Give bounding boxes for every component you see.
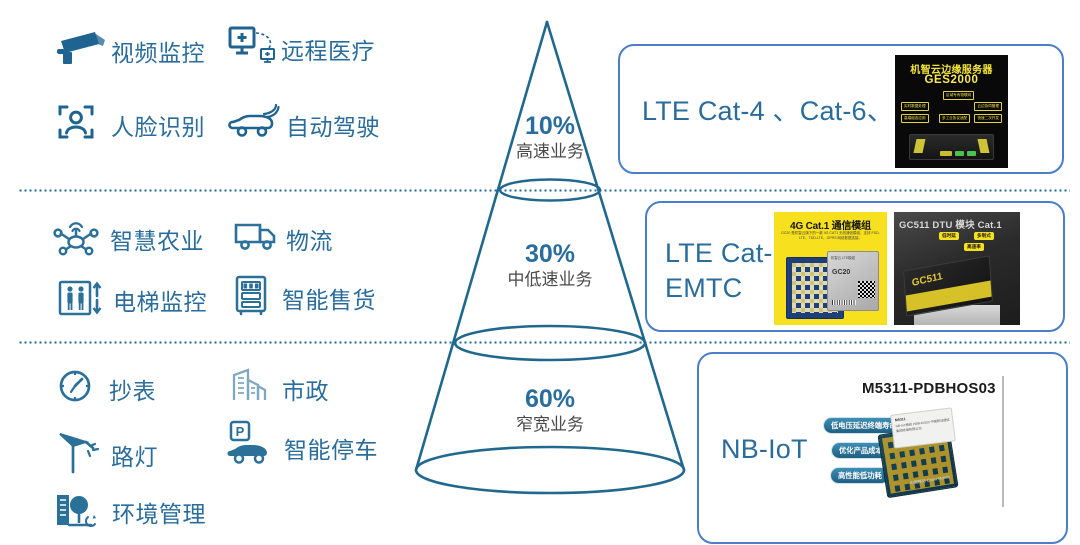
scenario-label: 视频监控 [111, 34, 205, 68]
delivery-truck-icon [232, 217, 286, 260]
server-port-row [940, 151, 976, 156]
card-title: LTE Cat-4 、Cat-6、5G [642, 94, 930, 129]
scenario-label: 人脸识别 [111, 108, 205, 142]
china-mobile-brand: 中国移动 China Mobile [910, 475, 951, 486]
scenario-label: 物流 [286, 222, 333, 256]
telemedicine-monitor-icon [225, 24, 281, 73]
cone-percent: 60% [460, 385, 640, 414]
smart-parking-icon: P [226, 420, 284, 475]
scenario-label: 智能停车 [284, 431, 378, 465]
cone-segment-name: 窄宽业务 [460, 414, 640, 436]
card-lte-cat1-emtc[interactable]: LTE Cat-1 EMTC 4G Cat.1 通信模组 GC20 是机智云旗下… [645, 201, 1065, 332]
barcode-icon [832, 300, 856, 305]
scenario-autonomous-driving[interactable]: 自动驾驶 [228, 103, 380, 146]
scenario-telemedicine[interactable]: 远程医疗 [225, 24, 375, 73]
scenario-elevator-monitoring[interactable]: 电梯监控 [55, 276, 207, 323]
street-lamp-icon [57, 428, 111, 481]
ges2000-tag-group: 区域专有物联网 实时数据处理 云边协同管理 高端组态应用 多工业协议适配 快速二… [899, 91, 1004, 123]
scenario-smart-agriculture[interactable]: 智慧农业 [52, 215, 204, 262]
self-driving-car-icon [228, 103, 286, 146]
scenario-meter-reading[interactable]: 抄表 [55, 366, 156, 411]
scenario-label: 抄表 [109, 372, 156, 406]
scenario-environment-management[interactable]: 环境管理 [52, 485, 206, 538]
scenario-label: 路灯 [111, 438, 158, 472]
scenario-smart-vending[interactable]: 智能售货 [230, 273, 376, 322]
cone-percent: 10% [460, 112, 640, 141]
scenario-smart-parking[interactable]: P 智能停车 [226, 420, 378, 475]
ges2000-tag: 云边协同管理 [974, 102, 1002, 111]
cone-segment-name: 高速业务 [460, 141, 640, 163]
agriculture-drone-icon [52, 215, 110, 262]
cone-segment-mid: 30% 中低速业务 [460, 240, 640, 291]
gc20-module-top-label: 机智云 LTE模组 [831, 255, 855, 260]
gc20-module-shield: 机智云 LTE模组 GC20 [827, 251, 879, 311]
scenario-label: 市政 [282, 372, 329, 406]
gc20-module-label: GC20 [832, 269, 850, 276]
meter-reading-icon [55, 366, 109, 411]
product-image-gc20: 4G Cat.1 通信模组 GC20 是机智云旗下的一款 4G CAT1 无线通… [774, 212, 887, 325]
cone-percent: 30% [460, 240, 640, 269]
gc511-device-label: GC511 [911, 271, 943, 289]
scenario-logistics[interactable]: 物流 [232, 217, 333, 260]
ges2000-tag: 高端组态应用 [901, 114, 929, 123]
cone-segment-low: 60% 窄宽业务 [460, 385, 640, 436]
scenario-label: 自动驾驶 [286, 108, 380, 142]
ges2000-tag: 实时数据处理 [901, 102, 929, 111]
ges2000-tag: 区域专有物联网 [943, 91, 974, 100]
product-image-gc511-dtu: GC511 DTU 模块 Cat.1 低时延 多制式 高速率 GC511 [894, 212, 1020, 325]
municipal-buildings-icon [228, 366, 282, 411]
product-image-ges2000: 机智云边缘服务器 GES2000 区域专有物联网 实时数据处理 云边协同管理 高… [895, 55, 1008, 168]
ges2000-tag: 多工业协议适配 [939, 114, 970, 123]
vertical-rule [1002, 376, 1004, 507]
environment-management-icon [52, 485, 112, 538]
qr-code-icon [858, 281, 875, 298]
ges2000-model: GES2000 [895, 74, 1008, 86]
gc511-tag: 高速率 [964, 243, 984, 251]
scenario-face-recognition[interactable]: 人脸识别 [55, 101, 205, 148]
cone-segment-name: 中低速业务 [460, 269, 640, 291]
cctv-camera-icon [55, 28, 111, 73]
card-title: NB-IoT [721, 432, 808, 467]
product-image-m5311: 中国移动 China Mobile M5311 NB-IoT模组 PDBHOS0… [874, 409, 974, 509]
card-title: LTE Cat-1 EMTC [665, 236, 788, 305]
slide-canvas: 10% 高速业务 30% 中低速业务 60% 窄宽业务 视频监控 [0, 0, 1080, 545]
scenario-label: 电梯监控 [113, 283, 207, 317]
gc20-title: 4G Cat.1 通信模组 [774, 217, 887, 232]
card-nb-iot[interactable]: NB-IoT M5311-PDBHOS03 低电压延迟终端寿命 优化产品成本 高… [697, 352, 1068, 544]
gc511-tag: 低时延 [939, 232, 959, 240]
server-chassis [909, 134, 994, 160]
svg-text:P: P [236, 424, 245, 439]
scenario-label: 远程医疗 [281, 32, 375, 66]
scenario-label: 智慧农业 [110, 222, 204, 256]
ges2000-tag: 快速二次开发 [974, 114, 1002, 123]
scenario-municipal[interactable]: 市政 [228, 366, 329, 411]
m5311-model-title: M5311-PDBHOS03 [862, 380, 996, 397]
gc511-title: GC511 DTU 模块 Cat.1 [899, 217, 1002, 231]
gc20-subtitle: GC20 是机智云旗下的一款 4G CAT1 无线通信模组，支持 FDD-LTE… [781, 231, 880, 242]
scenario-street-lamp[interactable]: 路灯 [57, 428, 158, 481]
cone-segment-high: 10% 高速业务 [460, 112, 640, 163]
card-lte-cat4-cat6-5g[interactable]: LTE Cat-4 、Cat-6、5G 机智云边缘服务器 GES2000 区域专… [618, 44, 1064, 174]
face-recognition-icon [55, 101, 111, 148]
gc511-tag: 多制式 [974, 232, 994, 240]
scenario-label: 智能售货 [282, 281, 376, 315]
m5311-sticker-line1: M5311 [895, 417, 906, 422]
scenario-label: 环境管理 [112, 495, 206, 529]
vending-machine-icon [230, 273, 282, 322]
scenario-video-surveillance[interactable]: 视频监控 [55, 28, 205, 73]
elevator-monitor-icon [55, 276, 113, 323]
